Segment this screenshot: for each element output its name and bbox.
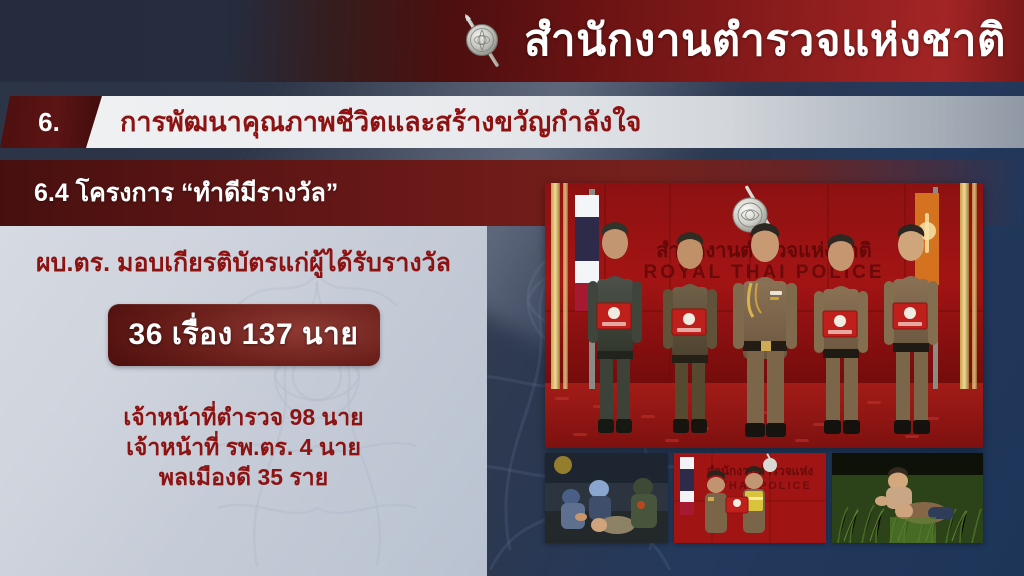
thumbnail-row: สำนักงานตำรวจแห่ง THAI POLICE [545, 453, 983, 543]
field-rescue-photo [832, 453, 983, 543]
royal-thai-police-emblem-icon [450, 9, 514, 73]
section-title-bar: การพัฒนาคุณภาพชีวิตและสร้างขวัญกำลังใจ [86, 96, 1024, 148]
slide-root: สำนักงานตำรวจแห่งชาติ 6. การพัฒนาคุณภาพช… [0, 0, 1024, 576]
header-bar: สำนักงานตำรวจแห่งชาติ [0, 0, 1024, 82]
cpr-rescue-photo [545, 453, 668, 543]
status-badge: 36 เรื่อง 137 นาย [108, 304, 380, 366]
section-heading-row: 6. การพัฒนาคุณภาพชีวิตและสร้างขวัญกำลังใ… [0, 96, 1024, 148]
panel-content: ผบ.ตร. มอบเกียรติบัตรแก่ผู้ได้รับรางวัล … [0, 226, 487, 493]
list-item: เจ้าหน้าที่ตำรวจ 98 นาย [0, 402, 487, 432]
list-item: เจ้าหน้าที่ รพ.ตร. 4 นาย [0, 432, 487, 462]
panel-lead-text: ผบ.ตร. มอบเกียรติบัตรแก่ผู้ได้รับรางวัล [0, 250, 487, 278]
award-ceremony-group-photo: สำนักงานตำรวจแห่งชาติ ROYAL THAI POLICE [545, 183, 983, 448]
list-item: พลเมืองดี 35 ราย [0, 462, 487, 492]
section-title: การพัฒนาคุณภาพชีวิตและสร้างขวัญกำลังใจ [120, 109, 641, 136]
header-content: สำนักงานตำรวจแห่งชาติ [450, 9, 1006, 73]
header-title: สำนักงานตำรวจแห่งชาติ [524, 19, 1006, 63]
certificate-handover-photo: สำนักงานตำรวจแห่ง THAI POLICE [674, 453, 826, 543]
stats-list: เจ้าหน้าที่ตำรวจ 98 นาย เจ้าหน้าที่ รพ.ต… [0, 402, 487, 493]
content-panel: ผบ.ตร. มอบเกียรติบัตรแก่ผู้ได้รับรางวัล … [0, 226, 487, 576]
badge-label: 36 เรื่อง 137 นาย [129, 311, 359, 358]
section-number: 6. [38, 107, 60, 138]
svg-text:THAI POLICE: THAI POLICE [720, 480, 812, 492]
subsection-title: 6.4 โครงการ “ทำดีมีรางวัล” [34, 173, 338, 213]
section-number-box: 6. [0, 96, 102, 148]
